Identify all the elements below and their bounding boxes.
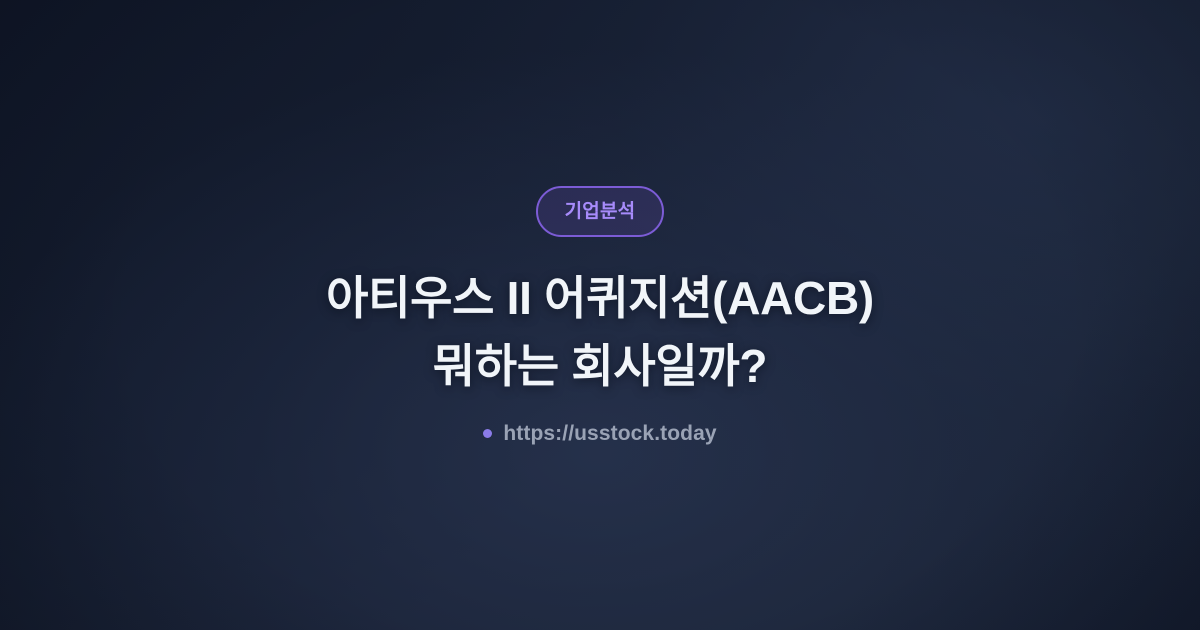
page-title: 아티우스 II 어퀴지션(AACB) 뭐하는 회사일까? xyxy=(326,264,874,400)
card-content: 기업분석 아티우스 II 어퀴지션(AACB) 뭐하는 회사일까? https:… xyxy=(0,0,1200,630)
category-badge: 기업분석 xyxy=(536,186,665,237)
page-title-line-1: 아티우스 II 어퀴지션(AACB) xyxy=(326,264,874,332)
page-title-line-2: 뭐하는 회사일까? xyxy=(326,332,874,400)
social-share-card: 기업분석 아티우스 II 어퀴지션(AACB) 뭐하는 회사일까? https:… xyxy=(0,0,1200,630)
bullet-dot-icon xyxy=(483,429,492,438)
site-url-label: https://usstock.today xyxy=(503,423,716,444)
category-badge-label: 기업분석 xyxy=(565,202,636,221)
site-url-row: https://usstock.today xyxy=(483,423,716,444)
